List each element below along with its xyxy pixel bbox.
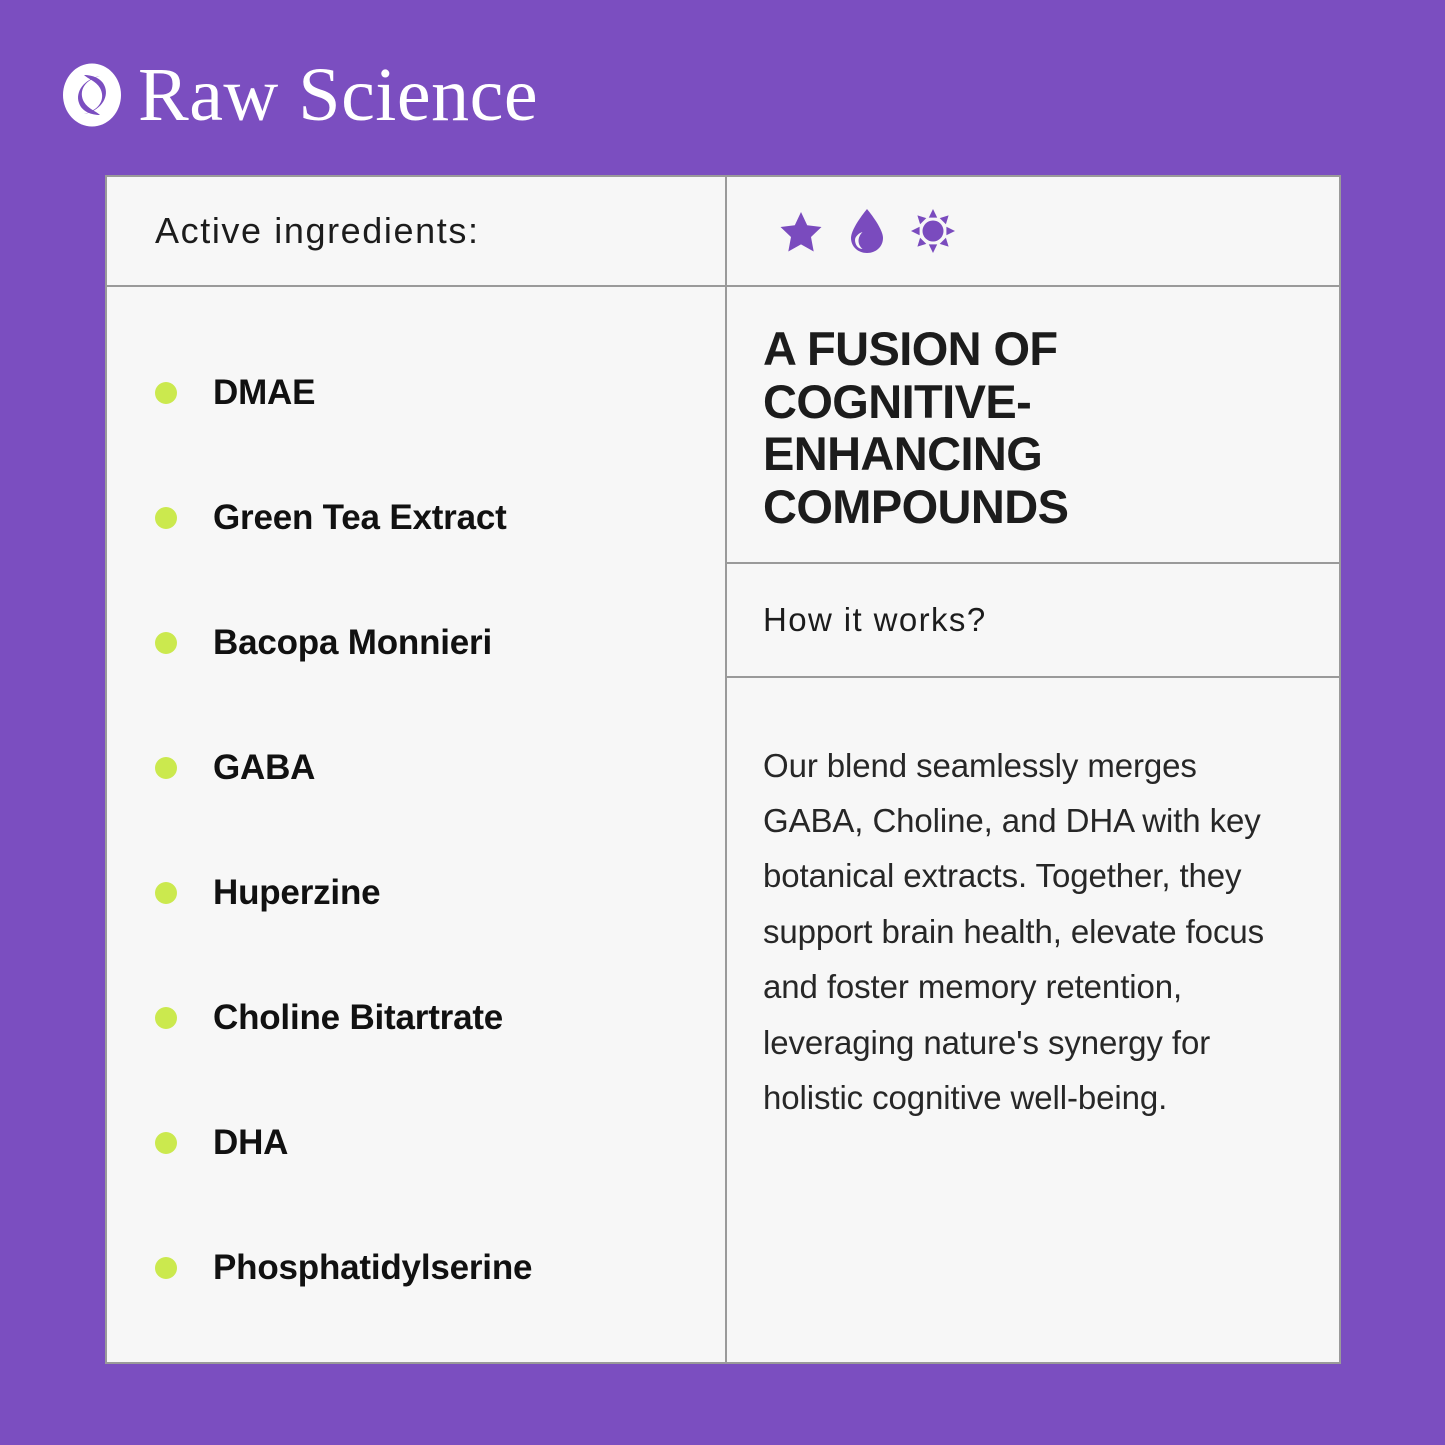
bullet-icon xyxy=(155,382,177,404)
how-it-works-cell: How it works? xyxy=(727,564,1339,678)
bullet-icon xyxy=(155,757,177,779)
ingredients-column: DMAE Green Tea Extract Bacopa Monnieri G… xyxy=(107,287,727,1362)
list-item: Huperzine xyxy=(155,873,725,913)
list-item: Choline Bitartrate xyxy=(155,998,725,1038)
list-item: GABA xyxy=(155,748,725,788)
ingredient-label: Phosphatidylserine xyxy=(213,1248,532,1288)
ingredient-label: DMAE xyxy=(213,373,315,413)
ingredients-list: DMAE Green Tea Extract Bacopa Monnieri G… xyxy=(155,373,725,1288)
ingredient-label: Green Tea Extract xyxy=(213,498,507,538)
star-icon xyxy=(779,209,823,253)
list-item: Green Tea Extract xyxy=(155,498,725,538)
list-item: Phosphatidylserine xyxy=(155,1248,725,1288)
ingredients-card: Active ingredients: xyxy=(105,175,1341,1364)
how-it-works-label: How it works? xyxy=(763,601,987,639)
brand-name: Raw Science xyxy=(138,57,538,133)
sun-icon xyxy=(911,209,955,253)
brand-header: Raw Science xyxy=(62,52,538,138)
bullet-icon xyxy=(155,632,177,654)
ingredient-label: GABA xyxy=(213,748,315,788)
ingredient-label: Huperzine xyxy=(213,873,380,913)
bullet-icon xyxy=(155,507,177,529)
list-item: DHA xyxy=(155,1123,725,1163)
description-cell: Our blend seamlessly merges GABA, Cholin… xyxy=(727,678,1339,1363)
bullet-icon xyxy=(155,1257,177,1279)
bullet-icon xyxy=(155,882,177,904)
ingredient-label: Bacopa Monnieri xyxy=(213,623,492,663)
bullet-icon xyxy=(155,1007,177,1029)
info-column: A FUSION OF COGNITIVE-ENHANCING COMPOUND… xyxy=(727,287,1339,1362)
active-ingredients-header-cell: Active ingredients: xyxy=(107,177,727,285)
active-ingredients-title: Active ingredients: xyxy=(155,210,480,252)
water-drop-icon xyxy=(849,208,885,254)
card-body-row: DMAE Green Tea Extract Bacopa Monnieri G… xyxy=(107,287,1339,1362)
bullet-icon xyxy=(155,1132,177,1154)
headline-cell: A FUSION OF COGNITIVE-ENHANCING COMPOUND… xyxy=(727,287,1339,564)
benefit-icons-cell xyxy=(727,177,1339,285)
ingredient-label: Choline Bitartrate xyxy=(213,998,503,1038)
ingredient-label: DHA xyxy=(213,1123,288,1163)
card-header-row: Active ingredients: xyxy=(107,177,1339,287)
list-item: DMAE xyxy=(155,373,725,413)
list-item: Bacopa Monnieri xyxy=(155,623,725,663)
description-text: Our blend seamlessly merges GABA, Cholin… xyxy=(763,738,1295,1126)
page-title: A FUSION OF COGNITIVE-ENHANCING COMPOUND… xyxy=(763,323,1299,534)
dna-helix-circle-logo-icon xyxy=(62,63,122,127)
